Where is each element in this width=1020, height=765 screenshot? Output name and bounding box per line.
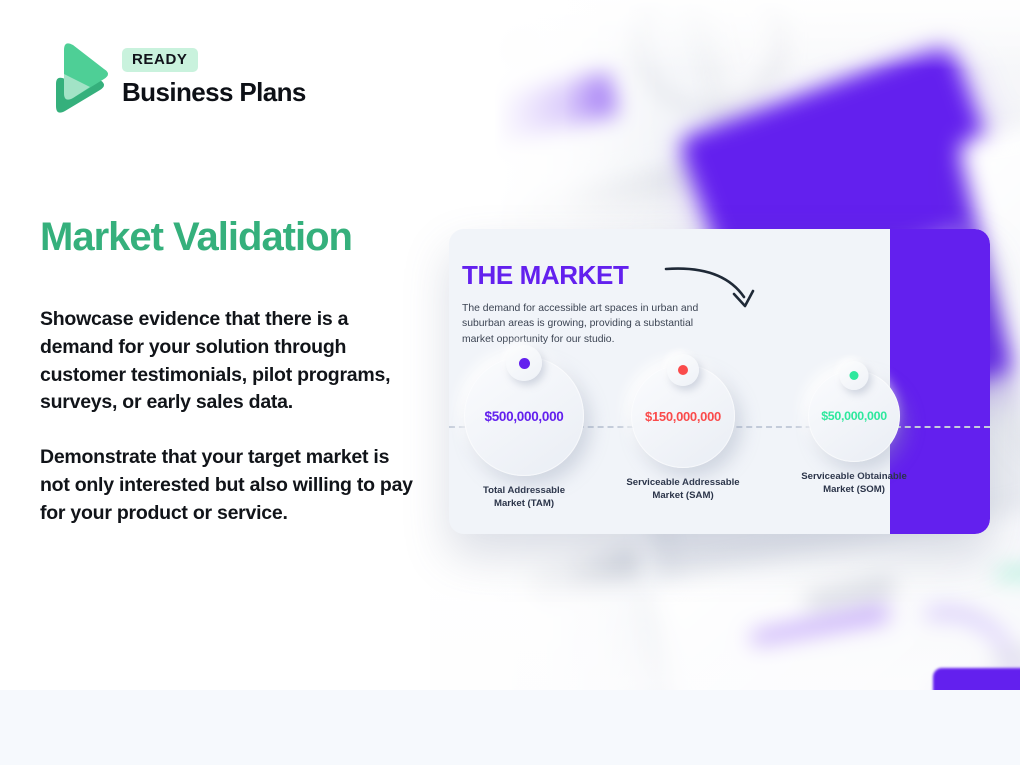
som-knob [840,361,869,390]
sam-label-line1: Serviceable Addressable [626,477,739,488]
curved-arrow-down-right-icon [664,261,774,323]
body-copy: Showcase evidence that there is a demand… [40,306,418,528]
som-dot-icon [850,371,859,380]
tam-label-line1: Total Addressable [483,485,565,496]
brand-logo: READY Business Plans [42,40,306,116]
body-paragraph-2: Demonstrate that your target market is n… [40,444,418,527]
som-label: Serviceable Obtainable Market (SOM) [776,471,932,496]
tam-label: Total Addressable Market (TAM) [464,485,584,510]
ready-badge: READY [122,48,198,72]
market-item-sam[interactable]: $150,000,000 Serviceable Addressable Mar… [604,364,762,502]
body-paragraph-1: Showcase evidence that there is a demand… [40,306,418,417]
slide-preview-card[interactable]: THE MARKET The demand for accessible art… [449,229,990,534]
market-item-som[interactable]: $50,000,000 Serviceable Obtainable Marke… [776,370,932,496]
background-bottom-fade [430,560,1020,690]
brand-logo-text: READY Business Plans [122,48,306,108]
tam-bubble: $500,000,000 [464,356,584,476]
page-title: Market Validation [40,215,440,260]
card-title: THE MARKET [462,260,628,291]
som-amount: $50,000,000 [821,409,887,423]
brand-name: Business Plans [122,77,306,108]
tam-label-line2: Market (TAM) [494,498,554,509]
sam-label: Serviceable Addressable Market (SAM) [604,477,762,502]
sam-amount: $150,000,000 [645,409,721,424]
som-label-line2: Market (SOM) [823,484,885,495]
sam-knob [667,354,699,386]
sam-label-line2: Market (SAM) [652,490,713,501]
som-label-line1: Serviceable Obtainable [801,471,907,482]
market-bubbles-row: $500,000,000 Total Addressable Market (T… [449,354,890,529]
tam-amount: $500,000,000 [485,409,564,424]
slide-canvas: READY Business Plans Market Validation S… [0,0,1020,765]
bottom-strip [0,690,1020,765]
sam-bubble: $150,000,000 [631,364,735,468]
tam-knob [506,345,542,381]
sam-dot-icon [678,365,688,375]
market-item-tam[interactable]: $500,000,000 Total Addressable Market (T… [464,356,584,510]
tam-dot-icon [519,358,530,369]
play-triangles-logo-icon [42,40,108,116]
som-bubble: $50,000,000 [808,370,900,462]
